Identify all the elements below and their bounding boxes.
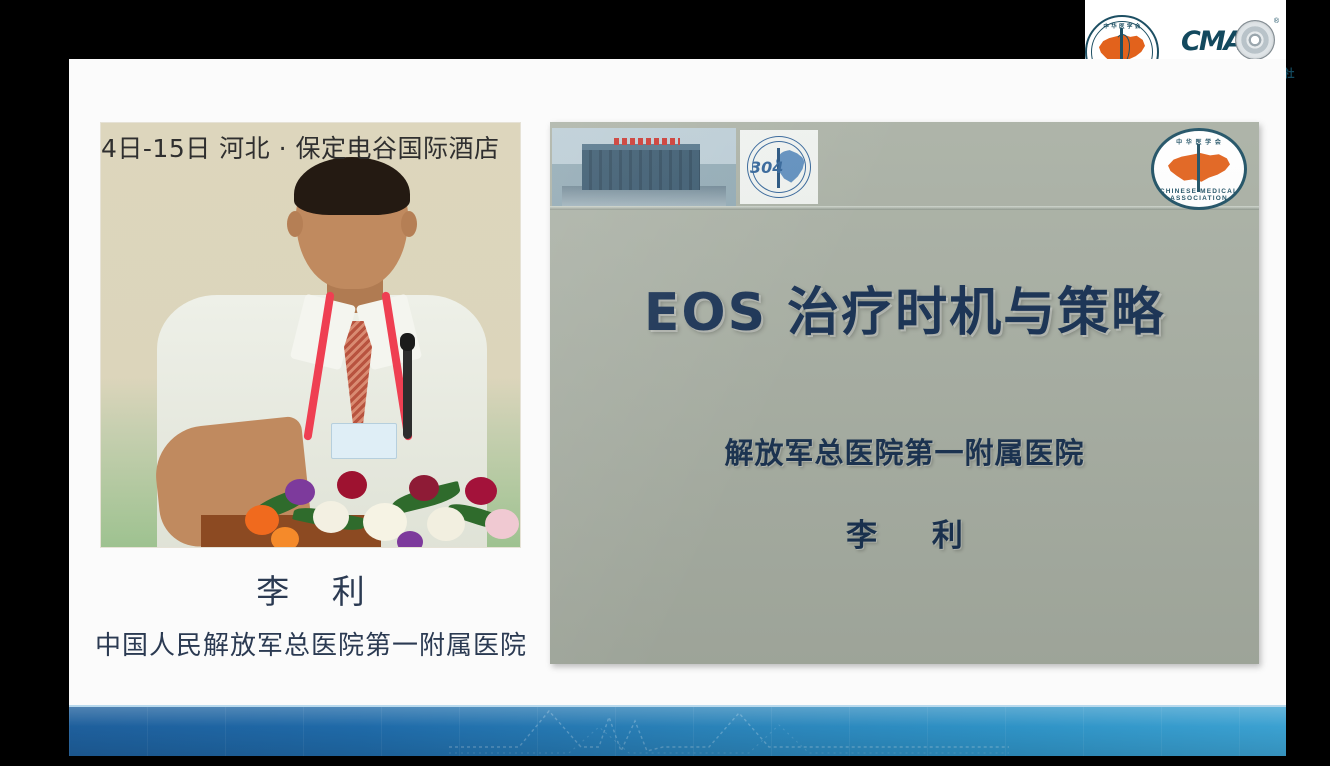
compact-disc-icon bbox=[1235, 20, 1275, 60]
speaker-affiliation-caption: 中国人民解放军总医院第一附属医院 bbox=[91, 625, 531, 662]
flower bbox=[465, 477, 497, 505]
seal-304-number: 304 bbox=[750, 158, 783, 177]
speaker-name-caption: 李 利 bbox=[101, 565, 520, 613]
slide-title: EOS 治疗时机与策略 bbox=[550, 270, 1259, 345]
emblem-bottom-text: CHINESE MEDICAL ASSOCIATION bbox=[1151, 188, 1247, 202]
slide-subtitle-organization: 解放军总医院第一附属医院 bbox=[550, 430, 1259, 472]
content-panel: 4日-15日 河北 · 保定电谷国际酒店 李 利 中国人民解放军总医院第一附属医… bbox=[69, 59, 1286, 707]
flower bbox=[271, 527, 299, 547]
flower bbox=[427, 507, 465, 541]
flower bbox=[397, 531, 423, 547]
asclepius-rod-icon bbox=[1197, 144, 1200, 192]
registered-mark: ® bbox=[1274, 18, 1279, 25]
slide-subtitle-presenter: 李 利 bbox=[550, 510, 1259, 555]
flower bbox=[285, 479, 315, 505]
speaker-ear-right bbox=[401, 211, 417, 237]
flower bbox=[485, 509, 519, 539]
flower bbox=[313, 501, 349, 533]
band-gloss-overlay bbox=[69, 707, 1286, 756]
building-roof-sign bbox=[614, 138, 680, 145]
conference-banner-text: 4日-15日 河北 · 保定电谷国际酒店 bbox=[101, 123, 520, 167]
hospital-304-seal-icon: 304 bbox=[740, 130, 818, 204]
speaker-ear-left bbox=[287, 211, 303, 237]
bottom-decorative-band bbox=[69, 707, 1286, 756]
flower-arrangement bbox=[241, 453, 520, 547]
seal-304-graphic: 304 bbox=[745, 134, 813, 200]
microphone-icon bbox=[403, 341, 412, 439]
presentation-slide: 304 中 华 医 学 会 CHINESE MEDICAL ASSOCIATIO… bbox=[550, 122, 1259, 664]
speaker-figure bbox=[101, 123, 520, 547]
speaker-at-podium-photo: 4日-15日 河北 · 保定电谷国际酒店 bbox=[101, 123, 520, 547]
video-frame: 中 华 医 学 会 1915 CHINESE MEDICAL ASSOCIATI… bbox=[0, 0, 1330, 766]
hospital-building-photo bbox=[552, 128, 736, 206]
cma-emblem-icon: 中 华 医 学 会 CHINESE MEDICAL ASSOCIATION bbox=[1151, 128, 1247, 210]
cma-disc-logo-icon: CMA ® bbox=[1179, 18, 1279, 64]
cma-wordmark: CMA bbox=[1181, 26, 1243, 57]
flower bbox=[409, 475, 439, 501]
flower bbox=[337, 471, 367, 499]
building-body bbox=[582, 144, 700, 190]
